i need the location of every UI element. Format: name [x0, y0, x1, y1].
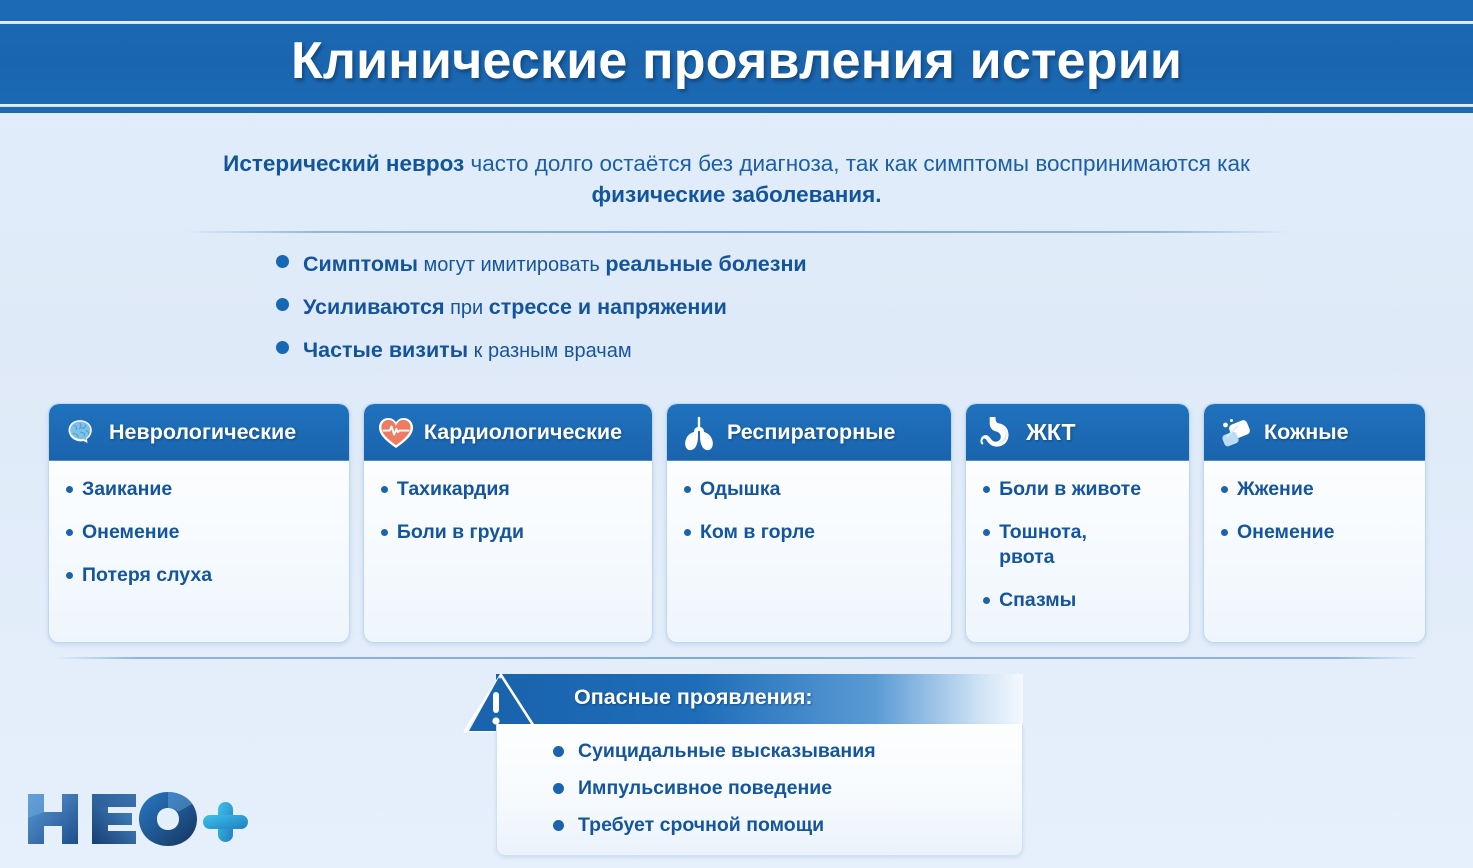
intro-lead: Истерический невроз	[223, 151, 464, 176]
list-item: Онемение	[63, 520, 339, 545]
list-item-label: Онемение	[1237, 520, 1334, 545]
symptom-category-cards: Неврологические Заикание Онемение Потеря…	[48, 403, 1426, 643]
key-point-bold-lead: Симптомы	[303, 252, 418, 276]
card-header: Респираторные	[667, 404, 951, 461]
category-card-cardiological: Кардиологические Тахикардия Боли в груди	[363, 403, 653, 643]
key-points-list: Симптомы могут имитировать реальные боле…	[276, 252, 807, 381]
list-item: Суицидальные высказывания	[553, 738, 1022, 764]
key-point-bold-lead: Частые визиты	[303, 338, 468, 362]
list-item-label: Суицидальные высказывания	[578, 738, 876, 764]
divider-under-intro	[185, 231, 1290, 233]
page-header: Клинические проявления истерии	[0, 0, 1473, 113]
bullet-dot-icon	[553, 746, 564, 757]
intro-emphasis: физические заболевания.	[591, 182, 881, 207]
brand-logo-neo-plus	[22, 788, 254, 850]
key-point-item: Усиливаются при стрессе и напряжении	[276, 295, 807, 321]
header-rule-bottom	[0, 104, 1473, 107]
bullet-dot-icon	[276, 341, 289, 354]
card-title: Кардиологические	[424, 420, 622, 445]
bullet-dot-icon	[66, 486, 73, 493]
key-point-text: Симптомы могут имитировать реальные боле…	[303, 252, 807, 278]
list-item: Требует срочной помощи	[553, 812, 1022, 838]
list-item: Спазмы	[980, 588, 1179, 613]
card-body: Заикание Онемение Потеря слуха	[49, 461, 349, 616]
bullet-dot-icon	[381, 529, 388, 536]
lungs-icon	[679, 413, 719, 453]
list-item-label: Ком в горле	[700, 520, 815, 545]
category-card-neurological: Неврологические Заикание Онемение Потеря…	[48, 403, 350, 643]
bullet-dot-icon	[983, 597, 990, 604]
card-title: ЖКТ	[1026, 419, 1075, 446]
category-card-skin: Кожные Жжение Онемение	[1203, 403, 1426, 643]
category-card-respiratory: Респираторные Одышка Ком в горле	[666, 403, 952, 643]
intro-middle: часто долго остаётся без диагноза, так к…	[464, 151, 1250, 176]
list-item-label: Одышка	[700, 477, 781, 502]
bullet-dot-icon	[684, 486, 691, 493]
bullet-dot-icon	[553, 820, 564, 831]
card-body: Одышка Ком в горле	[667, 461, 951, 573]
warning-header-bar: Опасные проявления:	[496, 674, 1023, 724]
list-item-label: Боли в груди	[397, 520, 524, 545]
bullet-dot-icon	[983, 529, 990, 536]
list-item: Заикание	[63, 477, 339, 502]
list-item: Онемение	[1218, 520, 1415, 545]
category-card-gastrointestinal: ЖКТ Боли в животе Тошнота, рвота Спазмы	[965, 403, 1190, 643]
key-point-item: Симптомы могут имитировать реальные боле…	[276, 252, 807, 278]
danger-warning-box: Опасные проявления: Суицидальные высказы…	[463, 674, 1023, 856]
warning-title: Опасные проявления:	[574, 685, 813, 710]
intro-paragraph: Истерический невроз часто долго остаётся…	[180, 148, 1293, 210]
list-item: Одышка	[681, 477, 941, 502]
bullet-dot-icon	[66, 529, 73, 536]
key-point-item: Частые визиты к разным врачам	[276, 338, 807, 364]
heart-ecg-icon	[376, 413, 416, 453]
divider-under-cards	[55, 657, 1421, 659]
bullet-dot-icon	[276, 255, 289, 268]
card-header: Кожные	[1204, 404, 1425, 461]
stomach-icon	[978, 413, 1018, 453]
brain-icon	[61, 413, 101, 453]
key-point-regular: могут имитировать	[418, 254, 605, 276]
list-item-label: Боли в животе	[999, 477, 1141, 502]
list-item: Потеря слуха	[63, 563, 339, 588]
list-item: Боли в груди	[378, 520, 642, 545]
bullet-dot-icon	[276, 298, 289, 311]
list-item: Жжение	[1218, 477, 1415, 502]
key-point-bold-tail: стрессе и напряжении	[489, 295, 727, 319]
card-header: ЖКТ	[966, 404, 1189, 461]
bullet-dot-icon	[983, 486, 990, 493]
key-point-regular: к разным врачам	[468, 340, 632, 362]
bullet-dot-icon	[1221, 529, 1228, 536]
list-item: Ком в горле	[681, 520, 941, 545]
card-body: Тахикардия Боли в груди	[364, 461, 652, 573]
list-item: Тахикардия	[378, 477, 642, 502]
list-item-label: Онемение	[82, 520, 179, 545]
skin-patch-icon	[1216, 413, 1256, 453]
bullet-dot-icon	[66, 572, 73, 579]
list-item-label: Тошнота, рвота	[999, 520, 1127, 570]
key-point-text: Усиливаются при стрессе и напряжении	[303, 295, 727, 321]
list-item: Тошнота, рвота	[980, 520, 1179, 570]
card-title: Респираторные	[727, 420, 896, 445]
key-point-regular: при	[445, 297, 489, 319]
key-point-text: Частые визиты к разным врачам	[303, 338, 632, 364]
list-item-label: Требует срочной помощи	[578, 812, 824, 838]
card-header: Неврологические	[49, 404, 349, 461]
bullet-dot-icon	[553, 783, 564, 794]
list-item-label: Спазмы	[999, 588, 1076, 613]
card-body: Жжение Онемение	[1204, 461, 1425, 573]
bullet-dot-icon	[381, 486, 388, 493]
list-item: Импульсивное поведение	[553, 775, 1022, 801]
list-item-label: Заикание	[82, 477, 172, 502]
list-item: Боли в животе	[980, 477, 1179, 502]
list-item-label: Потеря слуха	[82, 563, 212, 588]
card-body: Боли в животе Тошнота, рвота Спазмы	[966, 461, 1189, 641]
key-point-bold-tail: реальные болезни	[605, 252, 806, 276]
bullet-dot-icon	[684, 529, 691, 536]
list-item-label: Жжение	[1237, 477, 1314, 502]
header-rule-top	[0, 21, 1473, 24]
list-item-label: Импульсивное поведение	[578, 775, 832, 801]
card-title: Кожные	[1264, 420, 1349, 445]
key-point-bold-lead: Усиливаются	[303, 295, 445, 319]
bullet-dot-icon	[1221, 486, 1228, 493]
page-title: Клинические проявления истерии	[0, 26, 1473, 96]
card-title: Неврологические	[109, 420, 296, 445]
list-item-label: Тахикардия	[397, 477, 510, 502]
warning-body: Суицидальные высказывания Импульсивное п…	[496, 724, 1023, 856]
card-header: Кардиологические	[364, 404, 652, 461]
